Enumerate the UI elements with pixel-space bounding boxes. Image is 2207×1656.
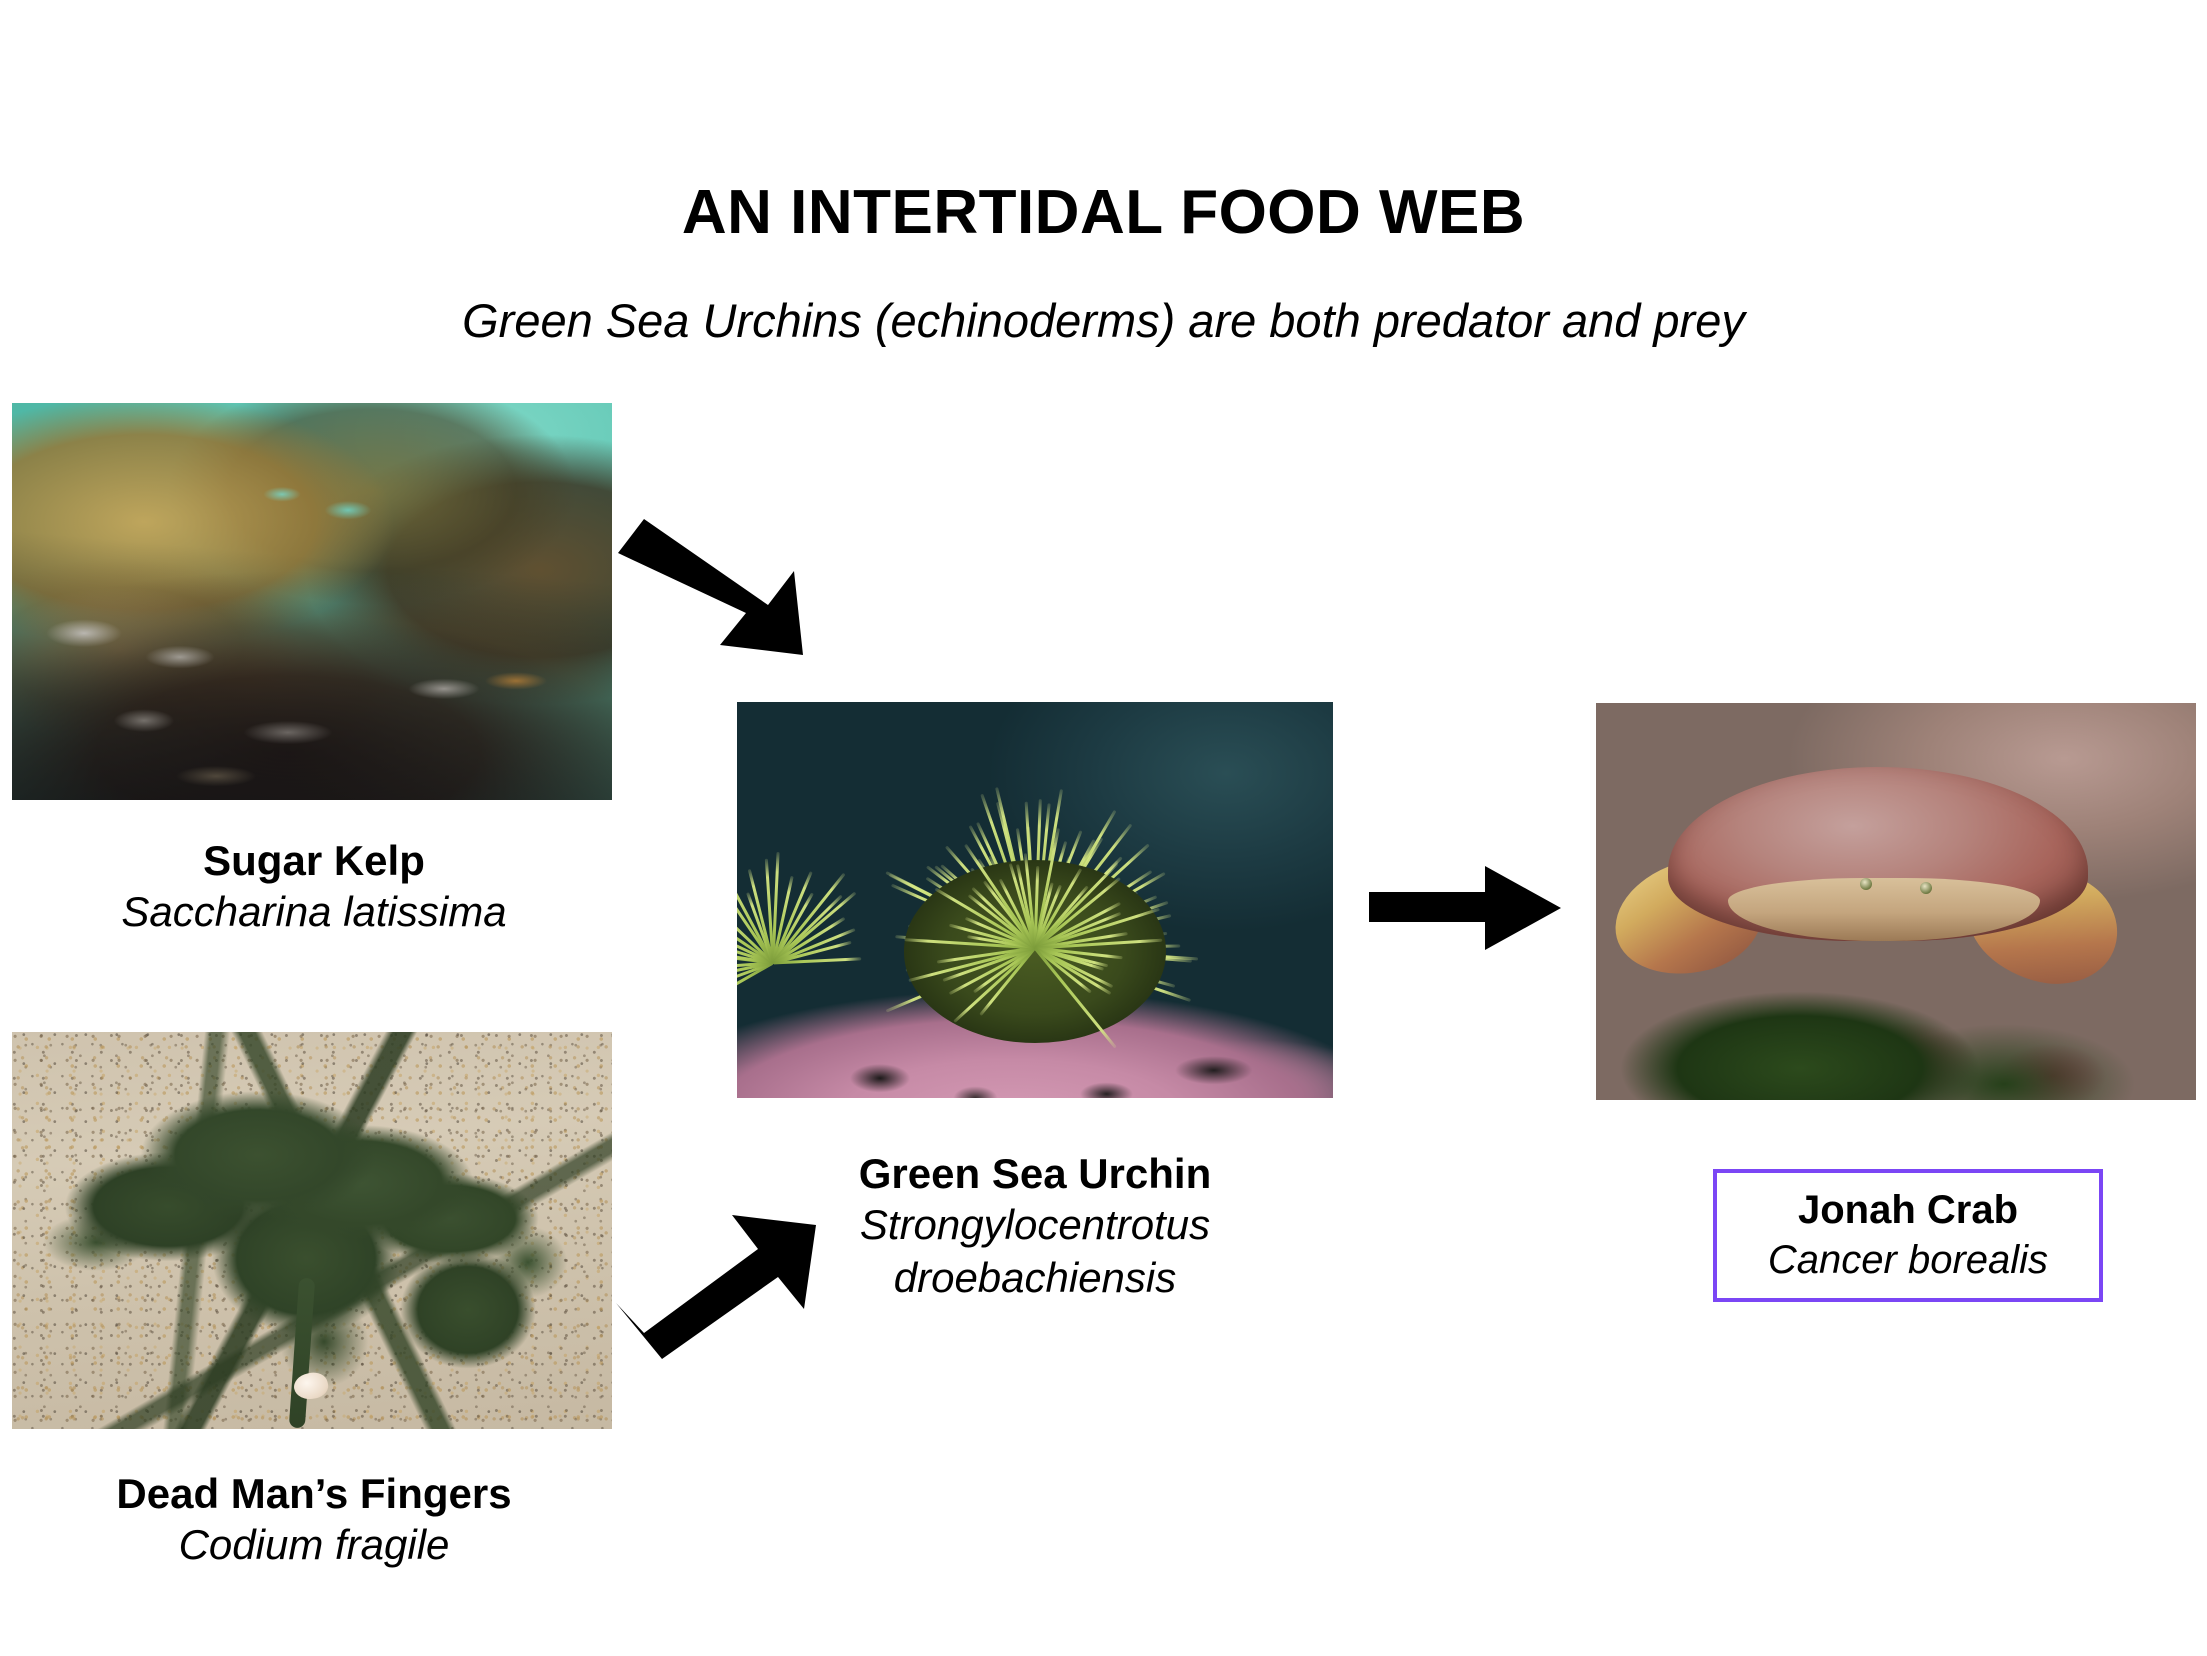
sugar-kelp-scientific-name: Saccharina latissima	[0, 886, 628, 939]
sugar-kelp-common-name: Sugar Kelp	[0, 835, 628, 886]
crab-left-eye	[1860, 878, 1872, 890]
kelp-shadow-layer	[12, 403, 612, 800]
arrow-urchin-to-crab	[1365, 858, 1565, 958]
sugar-kelp-caption: Sugar Kelp Saccharina latissima	[0, 835, 628, 939]
urchin-front-spines-layer	[737, 702, 1333, 1098]
jonah-crab-caption-selected[interactable]: Jonah Crab Cancer borealis	[1713, 1169, 2103, 1302]
jonah-crab-photo[interactable]	[1596, 703, 2196, 1100]
codium-body-layer	[12, 1032, 612, 1429]
sugar-kelp-photo[interactable]	[12, 403, 612, 800]
crab-right-eye	[1920, 882, 1932, 894]
dead-mans-fingers-scientific-name: Codium fragile	[0, 1519, 628, 1572]
page-title: AN INTERTIDAL FOOD WEB	[0, 180, 2207, 245]
jonah-crab-scientific-name: Cancer borealis	[1717, 1235, 2099, 1285]
dead-mans-fingers-photo[interactable]	[12, 1032, 612, 1429]
dead-mans-fingers-common-name: Dead Man’s Fingers	[0, 1468, 628, 1519]
page-subtitle: Green Sea Urchins (echinoderms) are both…	[0, 295, 2207, 347]
food-web-diagram: AN INTERTIDAL FOOD WEB Green Sea Urchins…	[0, 0, 2207, 1656]
arrow-kelp-to-urchin	[608, 505, 828, 685]
arrow-codium-to-urchin	[608, 1185, 828, 1365]
jonah-crab-common-name: Jonah Crab	[1717, 1186, 2099, 1235]
green-sea-urchin-photo[interactable]	[737, 702, 1333, 1098]
dead-mans-fingers-caption: Dead Man’s Fingers Codium fragile	[0, 1468, 628, 1572]
